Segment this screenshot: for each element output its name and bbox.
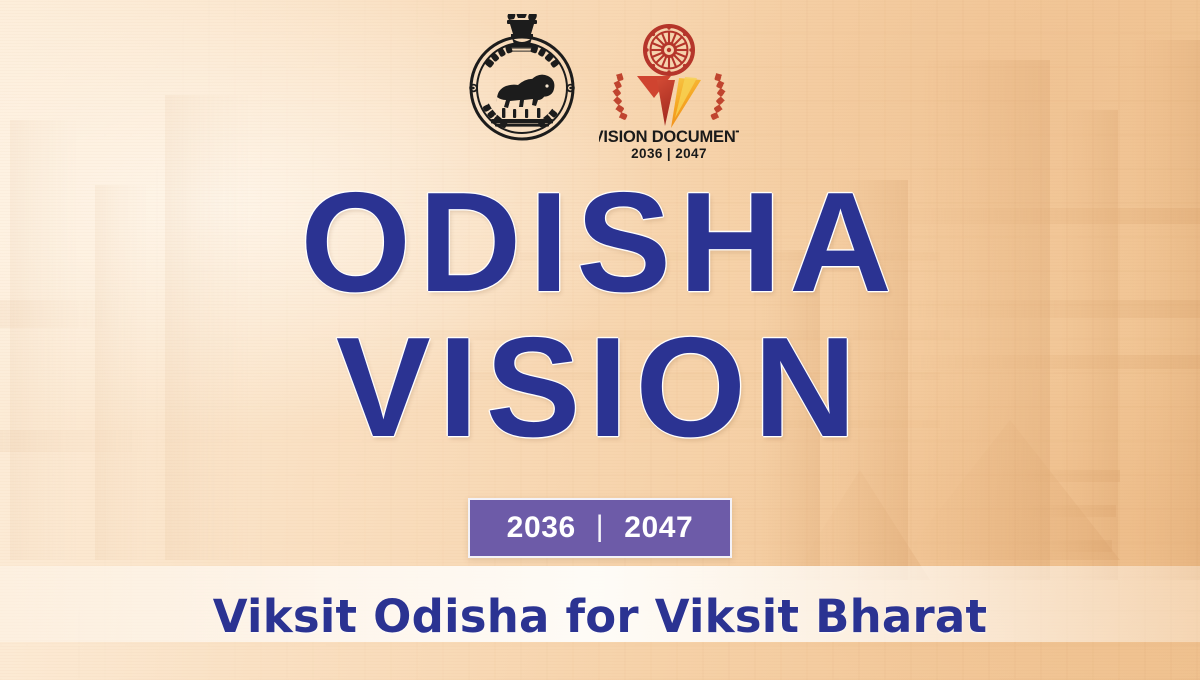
odisha-vision-poster: VISION DOCUMENT 2036 | 2047 ODISHA VISIO… <box>0 0 1200 680</box>
odisha-government-emblem <box>461 14 583 146</box>
logo-row: VISION DOCUMENT 2036 | 2047 <box>0 14 1200 164</box>
konark-wheel-icon <box>645 26 693 74</box>
vision-v-arrow-icon <box>637 76 701 128</box>
vision-document-title: VISION DOCUMENT <box>599 128 739 146</box>
poster-headline: ODISHA VISION <box>0 176 1200 456</box>
headline-line-odisha: ODISHA <box>0 176 1200 311</box>
poster-tagline: Viksit Odisha for Viksit Bharat <box>0 590 1200 643</box>
headline-line-vision: VISION <box>0 321 1200 456</box>
year-range-badge: 2036 | 2047 <box>468 498 732 558</box>
year-badge-row: 2036 | 2047 <box>0 498 1200 558</box>
odia-script-left <box>612 73 627 120</box>
odia-script-right <box>710 73 725 120</box>
badge-start-year: 2036 <box>507 511 576 545</box>
badge-end-year: 2047 <box>624 511 693 545</box>
vision-document-logo: VISION DOCUMENT 2036 | 2047 <box>599 14 739 162</box>
vision-document-years: 2036 | 2047 <box>631 146 707 161</box>
badge-separator: | <box>596 510 604 544</box>
